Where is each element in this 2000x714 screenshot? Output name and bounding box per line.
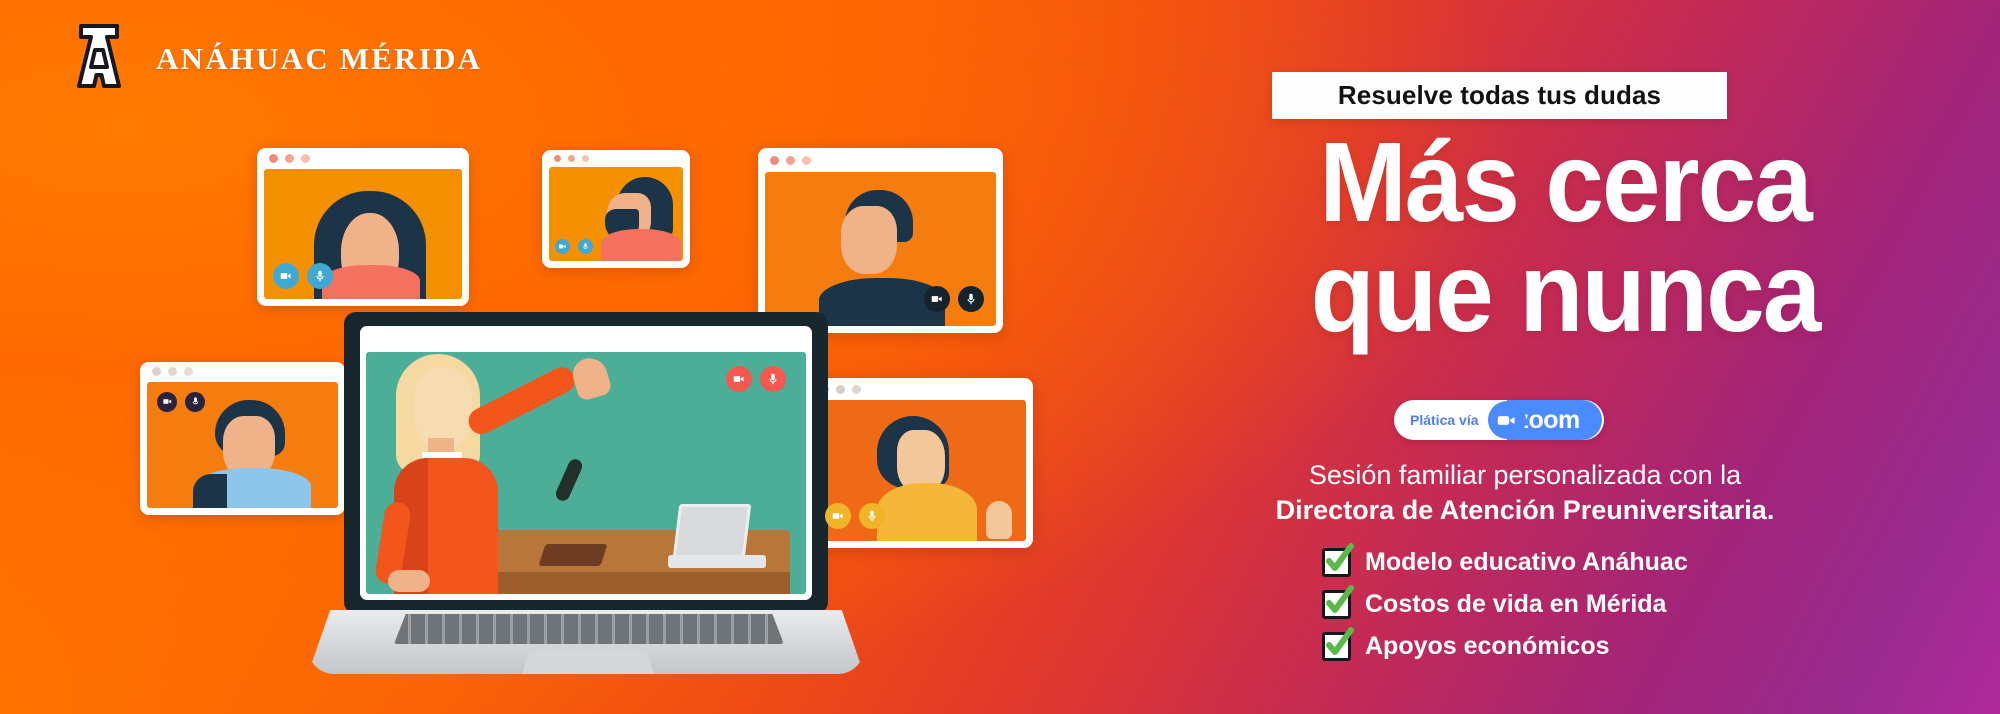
video-conference-illustration	[0, 0, 1100, 714]
video-camera-icon[interactable]	[157, 392, 177, 412]
laptop-trackpad	[522, 650, 654, 674]
participant-video-feed	[549, 167, 683, 261]
desk-laptop-screen	[673, 504, 752, 558]
zoom-badge-label: Plática vía	[1410, 412, 1479, 428]
participant-video-feed	[147, 382, 338, 508]
pointer-remote	[554, 457, 585, 503]
video-camera-icon[interactable]	[825, 503, 851, 529]
subtitle: Sesión familiar personalizada con la Dir…	[1130, 458, 1920, 527]
page-title: Más cerca que nunca	[1170, 128, 1960, 347]
headline-line-1: Más cerca	[1198, 128, 1933, 238]
presenter-raised-hand	[569, 354, 613, 402]
list-item: Apoyos económicos	[1322, 632, 1688, 661]
checklist-item-label: Modelo educativo Anáhuac	[1365, 548, 1688, 577]
subtitle-line-2: Directora de Atención Preuniversitaria.	[1130, 493, 1920, 528]
presenter-hip-hand	[388, 570, 430, 592]
participant-window-1	[257, 148, 469, 306]
window-dot-yellow	[568, 155, 575, 162]
list-item: Modelo educativo Anáhuac	[1322, 548, 1688, 577]
presenter-video-feed	[366, 352, 806, 594]
microphone-icon[interactable]	[185, 392, 205, 412]
participant-torso	[601, 229, 681, 261]
laptop-keyboard	[394, 614, 784, 644]
participant-shoulder-dark	[193, 474, 227, 508]
window-title-bar	[140, 362, 345, 382]
window-dot-green	[301, 154, 310, 163]
microphone-icon[interactable]	[760, 366, 786, 392]
participant-controls[interactable]	[157, 392, 205, 412]
feature-checklist: Modelo educativo Anáhuac Costos de vida …	[1322, 548, 1688, 674]
laptop-browser-window	[360, 326, 812, 600]
participant-torso	[322, 265, 420, 299]
video-camera-icon[interactable]	[924, 286, 950, 312]
tablet-on-desk	[538, 544, 607, 566]
laptop-illustration	[336, 312, 836, 687]
checkmark-icon	[1322, 590, 1351, 619]
eyebrow-text: Resuelve todas tus dudas	[1338, 80, 1661, 111]
video-camera-icon[interactable]	[726, 366, 752, 392]
participant-controls[interactable]	[825, 503, 885, 529]
brand-wordmark: ANÁHUAC MÉRIDA	[156, 41, 482, 77]
window-title-bar	[257, 148, 469, 169]
window-dot-green	[802, 156, 811, 165]
window-dot-red	[770, 156, 779, 165]
presenter-controls[interactable]	[726, 366, 786, 392]
checklist-item-label: Apoyos económicos	[1365, 632, 1610, 661]
window-dot-green	[184, 367, 193, 376]
window-title-bar	[542, 150, 690, 167]
eyebrow-banner: Resuelve todas tus dudas	[1272, 72, 1727, 119]
checkmark-icon	[1322, 632, 1351, 661]
microphone-icon[interactable]	[578, 239, 593, 254]
window-dot-red	[152, 367, 161, 376]
laptop-window-title-bar	[360, 326, 812, 350]
participant-video-feed	[264, 169, 462, 299]
zoom-brand-text: zoom	[1517, 406, 1580, 435]
video-camera-icon[interactable]	[555, 239, 570, 254]
video-camera-icon	[1488, 401, 1526, 439]
zoom-badge[interactable]: Plática vía zoom	[1394, 400, 1604, 440]
checklist-item-label: Costos de vida en Mérida	[1365, 590, 1666, 619]
window-dot-yellow	[168, 367, 177, 376]
window-dot-yellow	[836, 385, 845, 394]
microphone-icon[interactable]	[307, 263, 333, 289]
participant-head	[841, 206, 897, 274]
participant-torso	[877, 483, 977, 541]
promo-panel: Resuelve todas tus dudas Más cerca que n…	[1130, 0, 2000, 714]
desk-laptop-base	[668, 555, 766, 568]
participant-controls[interactable]	[924, 286, 984, 312]
participant-window-5	[808, 378, 1033, 548]
participant-controls[interactable]	[273, 263, 333, 289]
window-dot-red	[269, 154, 278, 163]
participant-video-feed	[765, 172, 996, 326]
headline-line-2: que nunca	[1198, 238, 1933, 348]
list-item: Costos de vida en Mérida	[1322, 590, 1688, 619]
participant-window-4	[140, 362, 345, 515]
microphone-icon[interactable]	[859, 503, 885, 529]
participant-controls[interactable]	[555, 239, 593, 254]
window-dot-green	[582, 155, 589, 162]
subtitle-line-1: Sesión familiar personalizada con la	[1130, 458, 1920, 493]
participant-raised-hand	[986, 501, 1012, 539]
window-title-bar	[808, 378, 1033, 400]
brand-logo[interactable]: ANÁHUAC MÉRIDA	[68, 20, 482, 97]
window-dot-green	[852, 385, 861, 394]
checkmark-icon	[1322, 548, 1351, 577]
video-camera-icon[interactable]	[273, 263, 299, 289]
microphone-icon[interactable]	[958, 286, 984, 312]
window-dot-red	[554, 155, 561, 162]
desk-front	[474, 572, 790, 594]
presenter-raised-arm	[464, 363, 579, 439]
participant-window-2	[542, 150, 690, 268]
window-dot-yellow	[786, 156, 795, 165]
window-title-bar	[758, 148, 1003, 172]
participant-video-feed	[815, 400, 1026, 541]
participant-window-3	[758, 148, 1003, 333]
anahuac-a-monogram-icon	[68, 20, 130, 97]
window-dot-yellow	[285, 154, 294, 163]
